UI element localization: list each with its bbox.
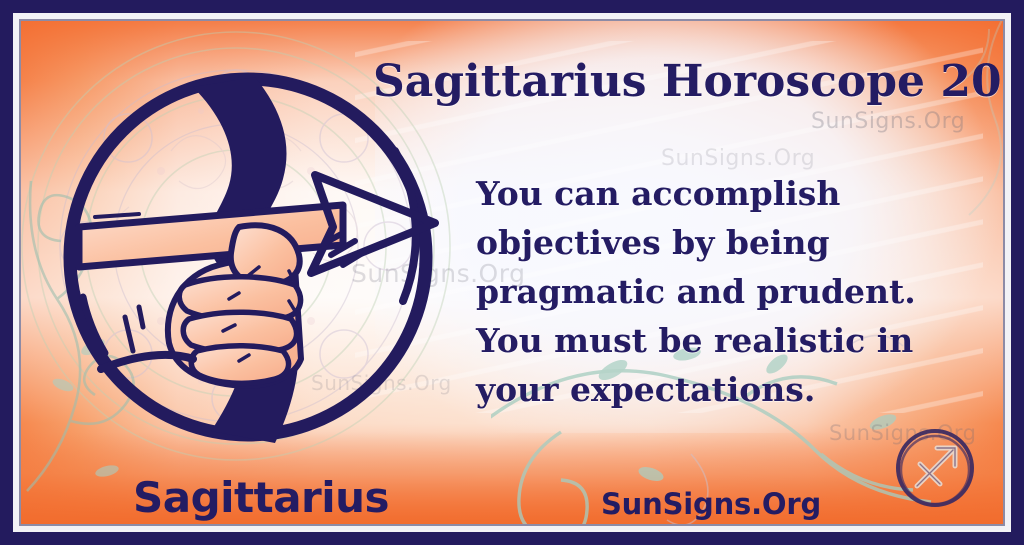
horoscope-text: You can accomplish objectives by being p… (476, 169, 1003, 414)
artwork-plate: SunSigns.Org SunSigns.Org SunSigns.Org S… (21, 21, 1003, 524)
archer-hand-bow-arrow-icon (43, 59, 453, 459)
sagittarius-glyph-icon (889, 422, 981, 514)
horoscope-line: You can accomplish (476, 169, 1003, 218)
horoscope-line: pragmatic and prudent. (476, 267, 1003, 316)
watermark: SunSigns.Org (661, 146, 815, 171)
horoscope-line: your expectations. (476, 365, 1003, 414)
sign-name-label: Sagittarius (133, 473, 389, 522)
horoscope-line: You must be realistic in (476, 316, 1003, 365)
horoscope-line: objectives by being (476, 218, 1003, 267)
site-name-label: SunSigns.Org (561, 487, 861, 521)
horoscope-card: SunSigns.Org SunSigns.Org SunSigns.Org S… (0, 0, 1024, 545)
page-title: Sagittarius Horoscope 2022 (373, 56, 1003, 107)
watermark: SunSigns.Org (811, 109, 965, 134)
